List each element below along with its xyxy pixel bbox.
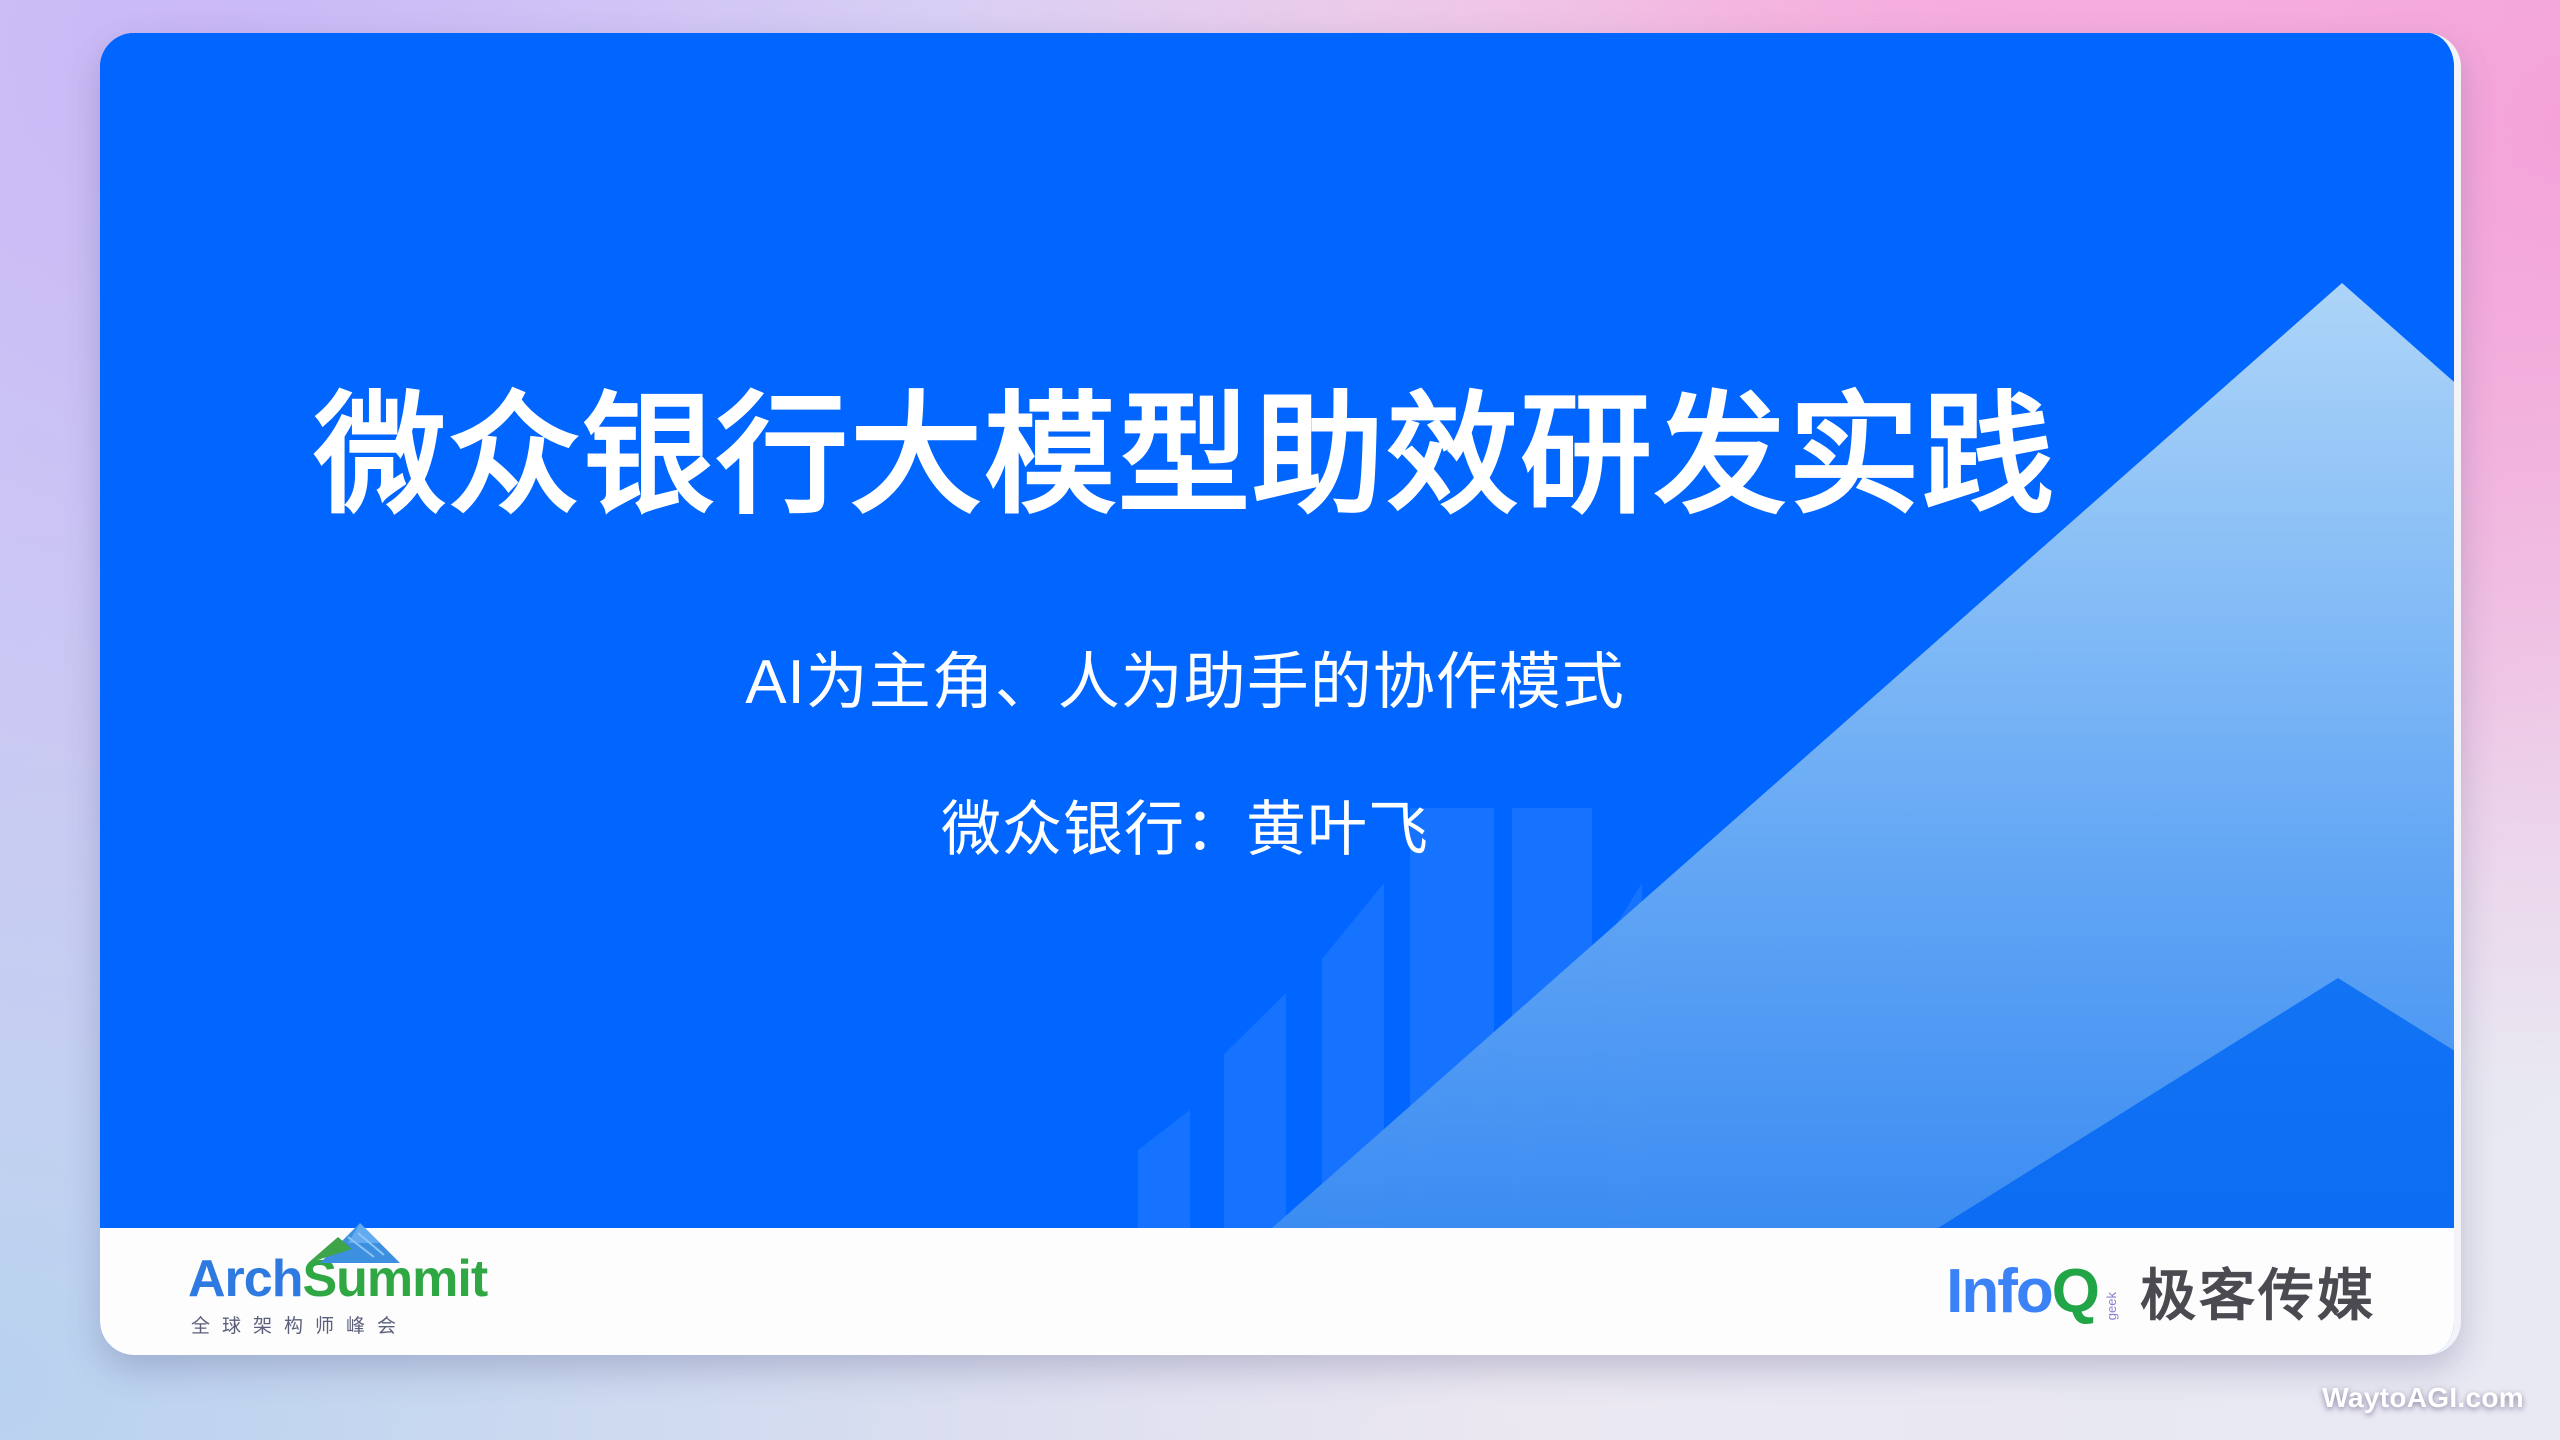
archsummit-wordmark: ArchSummit <box>188 1253 487 1305</box>
infoq-text-cn: 极客传媒 <box>2140 1251 2376 1332</box>
infoq-word-info: Info <box>1946 1261 2052 1323</box>
presentation-slide: 微众银行大模型助效研发实践 AI为主角、人为助手的协作模式 微众银行：黄叶飞 A… <box>100 33 2461 1355</box>
slide-footer: ArchSummit 全球架构师峰会 InfoQ geek 极客传媒 <box>100 1228 2454 1355</box>
slide-presenter: 微众银行：黄叶飞 <box>285 781 2085 868</box>
infoq-wordmark: InfoQ geek <box>1946 1261 2098 1323</box>
slide-page-backdrop: 微众银行大模型助效研发实践 AI为主角、人为助手的协作模式 微众银行：黄叶飞 A… <box>0 0 2560 1440</box>
slide-title: 微众银行大模型助效研发实践 <box>285 378 2085 534</box>
infoq-word-q: Q <box>2052 1261 2098 1323</box>
archsummit-logo: ArchSummit 全球架构师峰会 <box>188 1245 487 1338</box>
archsummit-word-arch: Arch <box>188 1253 302 1305</box>
mountain-peak-icon <box>308 1223 400 1263</box>
infoq-logo: InfoQ geek 极客传媒 <box>1946 1251 2376 1332</box>
slide-text-block: 微众银行大模型助效研发实践 AI为主角、人为助手的协作模式 微众银行：黄叶飞 <box>100 33 2454 1228</box>
slide-body: 微众银行大模型助效研发实践 AI为主角、人为助手的协作模式 微众银行：黄叶飞 <box>100 33 2454 1228</box>
archsummit-subtitle-cn: 全球架构师峰会 <box>188 1311 408 1338</box>
watermark: WaytoAGI.com <box>2322 1382 2524 1414</box>
infoq-tagline: geek <box>2105 1292 2118 1320</box>
slide-subtitle: AI为主角、人为助手的协作模式 <box>285 631 2085 721</box>
